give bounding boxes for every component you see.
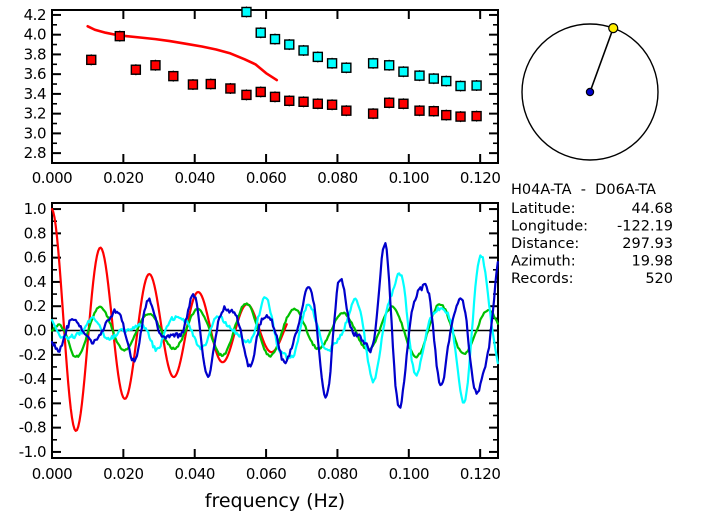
y-tick-label: 0.8 [24,224,46,242]
data-point-marker [328,59,337,68]
data-point-marker [385,61,394,70]
x-tick-label: 0.020 [103,169,143,187]
y-tick-label: 0.0 [24,322,46,340]
y-tick-label: 3.2 [24,105,46,123]
y-tick-label: -0.8 [19,419,46,437]
azimuth-diagram-svg [505,0,704,180]
y-tick-label: 2.8 [24,144,46,162]
station-pair-title: H04A-TA - D06A-TA [511,182,656,198]
data-point-marker [285,96,294,105]
spectra-plot-panel: -1.0-0.8-0.6-0.4-0.20.00.20.40.60.81.00.… [0,190,505,519]
station-info-group: H04A-TA - D06A-TALatitude:44.68Longitude… [511,182,673,287]
data-point-marker [226,84,235,93]
data-point-marker [169,72,178,81]
data-point-marker [271,92,280,101]
station-info-svg: H04A-TA - D06A-TALatitude:44.68Longitude… [505,180,704,300]
data-point-marker [342,63,351,72]
info-label-records: Records: [511,271,574,287]
data-point-marker [342,106,351,115]
x-tick-label: 0.080 [317,169,357,187]
data-point-marker [442,111,451,120]
series-upper-branch [242,6,481,91]
info-value-distance: 297.93 [622,236,673,252]
x-tick-label: 0.100 [389,169,429,187]
x-tick-label: 0.000 [32,169,72,187]
y-tick-label: 0.6 [24,249,46,267]
info-label-latitude: Latitude: [511,201,576,217]
info-value-records: 520 [645,271,673,287]
data-point-marker [256,28,265,37]
x-tick-label: 0.060 [246,169,286,187]
data-point-marker [415,71,424,80]
figure-root: 2.83.03.23.43.63.84.04.20.0000.0200.0400… [0,0,704,519]
x-tick-label: 0.020 [103,465,143,483]
data-point-marker [328,100,337,109]
data-point-marker [369,109,378,118]
y-tick-label: 4.0 [24,26,46,44]
data-point-marker [313,99,322,108]
y-tick-label: -1.0 [19,443,46,461]
y-tick-label: 4.2 [24,6,46,24]
y-tick-label: -0.2 [19,346,46,364]
data-point-marker [385,98,394,107]
data-point-marker [206,80,215,89]
info-value-longitude: -122.19 [617,219,673,235]
info-value-latitude: 44.68 [631,201,673,217]
spectra-plot-svg: -1.0-0.8-0.6-0.4-0.20.00.20.40.60.81.00.… [0,190,505,519]
data-point-marker [442,77,451,86]
y-tick-label: 3.6 [24,65,46,83]
y-tick-label: 3.0 [24,124,46,142]
x-tick-label: 0.000 [32,465,72,483]
info-label-longitude: Longitude: [511,219,588,235]
data-point-marker [313,52,322,61]
y-tick-label: 3.8 [24,45,46,63]
data-point-marker [399,67,408,76]
data-point-marker [456,82,465,91]
data-point-marker [87,55,96,64]
data-point-marker [115,32,124,41]
x-tick-label: 0.040 [174,169,214,187]
y-tick-label: 1.0 [24,200,46,218]
dispersion-plot-svg: 2.83.03.23.43.63.84.04.20.0000.0200.0400… [0,0,505,190]
x-tick-label: 0.040 [174,465,214,483]
y-tick-label: -0.6 [19,394,46,412]
x-tick-label: 0.120 [460,465,500,483]
data-point-marker [299,46,308,55]
info-label-azimuth: Azimuth: [511,254,576,270]
data-point-marker [271,35,280,44]
reference-station-marker [586,88,593,95]
data-point-marker [429,107,438,116]
info-value-azimuth: 19.98 [631,254,673,270]
y-tick-label: 0.2 [24,297,46,315]
y-tick-label: 3.4 [24,85,46,103]
data-point-marker [242,90,251,99]
data-point-marker [415,106,424,115]
info-label-distance: Distance: [511,236,579,252]
data-point-marker [285,40,294,49]
x-tick-label: 0.120 [460,169,500,187]
data-point-marker [188,80,197,89]
azimuth-group [522,24,658,160]
data-point-marker [242,7,251,16]
dispersion-plot-panel: 2.83.03.23.43.63.84.04.20.0000.0200.0400… [0,0,505,190]
x-tick-label: 0.060 [246,465,286,483]
data-point-marker [472,112,481,121]
data-point-marker [429,74,438,83]
data-point-marker [256,87,265,96]
x-tick-label: 0.100 [389,465,429,483]
data-point-marker [131,65,140,74]
data-point-marker [399,99,408,108]
remote-station-marker [609,24,618,33]
station-info-panel: H04A-TA - D06A-TALatitude:44.68Longitude… [505,180,704,300]
data-point-marker [299,97,308,106]
y-tick-label: -0.4 [19,370,46,388]
x-axis-title: frequency (Hz) [205,490,345,512]
data-point-marker [151,61,160,70]
data-point-marker [369,59,378,68]
azimuth-ray [590,28,613,92]
spectra-plot-area: -1.0-0.8-0.6-0.4-0.20.00.20.40.60.81.00.… [19,200,501,512]
data-point-marker [472,81,481,90]
x-tick-label: 0.080 [317,465,357,483]
y-tick-label: 0.4 [24,273,46,291]
dispersion-plot-area: 2.83.03.23.43.63.84.04.20.0000.0200.0400… [24,6,501,187]
data-point-marker [456,112,465,121]
azimuth-diagram-panel [505,0,704,180]
